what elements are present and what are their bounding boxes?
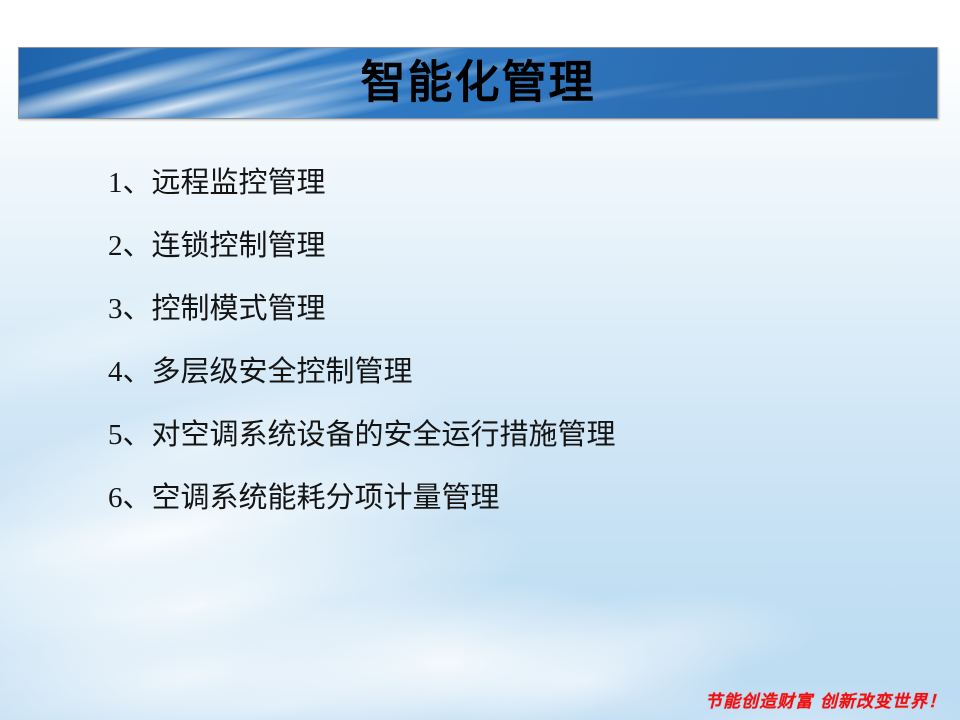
list-item: 6、空调系统能耗分项计量管理 — [108, 475, 908, 538]
list-item-separator: 、 — [123, 417, 152, 451]
slide-title: 智能化管理 — [19, 60, 937, 105]
list-item-number: 5 — [108, 419, 123, 451]
list-item-separator: 、 — [123, 165, 152, 199]
list-item-number: 4 — [108, 356, 123, 388]
cloud-shape — [519, 585, 822, 685]
list-item: 5、对空调系统设备的安全运行措施管理 — [108, 412, 908, 475]
list-item-label: 远程监控管理 — [152, 165, 326, 199]
list-item: 4、多层级安全控制管理 — [108, 349, 908, 412]
list-item-label: 空调系统能耗分项计量管理 — [152, 480, 500, 514]
cloud-shape — [417, 616, 752, 720]
content-list: 1、远程监控管理 2、连锁控制管理 3、控制模式管理 4、多层级安全控制管理 5… — [108, 160, 908, 538]
list-item-label: 连锁控制管理 — [152, 228, 326, 262]
slide-canvas: 智能化管理 1、远程监控管理 2、连锁控制管理 3、控制模式管理 4、多层级安全… — [0, 0, 960, 720]
list-item-separator: 、 — [123, 291, 152, 325]
list-item-separator: 、 — [123, 354, 152, 388]
title-banner: 智能化管理 — [18, 47, 938, 119]
list-item-label: 对空调系统设备的安全运行措施管理 — [152, 417, 616, 451]
list-item: 1、远程监控管理 — [108, 160, 908, 223]
list-item-number: 2 — [108, 230, 123, 262]
list-item-number: 3 — [108, 293, 123, 325]
list-item-separator: 、 — [123, 228, 152, 262]
list-item-label: 多层级安全控制管理 — [152, 354, 413, 388]
cloud-shape — [225, 565, 665, 720]
cloud-shape — [0, 567, 506, 720]
list-item: 2、连锁控制管理 — [108, 223, 908, 286]
list-item-number: 6 — [108, 482, 123, 514]
list-item: 3、控制模式管理 — [108, 286, 908, 349]
cloud-shape — [56, 638, 484, 720]
list-item-separator: 、 — [123, 480, 152, 514]
list-item-label: 控制模式管理 — [152, 291, 326, 325]
footer-slogan: 节能创造财富 创新改变世界！ — [705, 687, 946, 712]
list-item-number: 1 — [108, 167, 123, 199]
